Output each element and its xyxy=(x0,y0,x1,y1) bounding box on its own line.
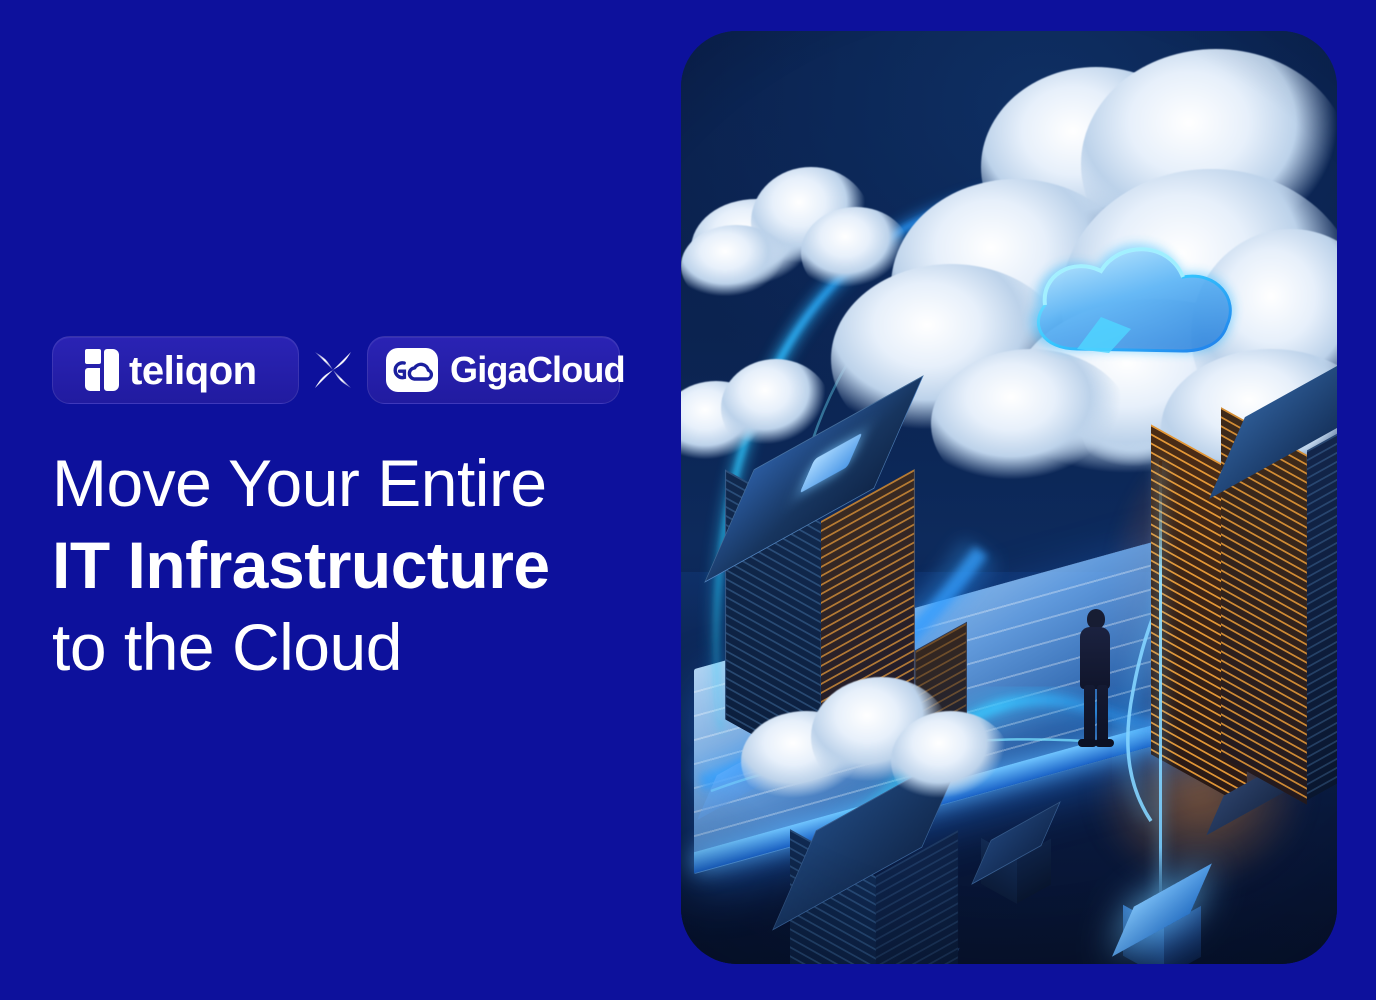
gigacloud-wordmark: GigaCloud xyxy=(450,352,625,388)
partner-logo-lockup: teliqon xyxy=(52,336,652,404)
sparkle-x-icon xyxy=(299,336,367,404)
person-figure xyxy=(1073,609,1117,747)
server-rack-bottom-left xyxy=(786,801,976,964)
data-cube-glowing xyxy=(1123,891,1201,964)
server-rack-right-front xyxy=(1221,391,1337,811)
headline-line-1: Move Your Entire xyxy=(52,442,652,524)
go-cloud-badge-icon xyxy=(386,348,438,392)
left-content-column: teliqon xyxy=(52,336,652,688)
headline-line-3: to the Cloud xyxy=(52,606,652,688)
teliqon-wordmark: teliqon xyxy=(129,351,257,391)
data-cube-dark xyxy=(981,826,1051,900)
hero-image-panel xyxy=(681,31,1337,964)
teliqon-logo-pill[interactable]: teliqon xyxy=(52,336,299,404)
teliqon-t-mark-icon xyxy=(85,349,119,391)
cloud-lower xyxy=(741,671,1011,821)
headline-block: Move Your Entire IT Infrastructure to th… xyxy=(52,442,652,688)
light-beam xyxy=(1159,461,1162,916)
gigacloud-logo-pill[interactable]: GigaCloud xyxy=(367,336,620,404)
headline-line-2: IT Infrastructure xyxy=(52,524,652,606)
promo-banner: teliqon xyxy=(0,0,1376,1000)
